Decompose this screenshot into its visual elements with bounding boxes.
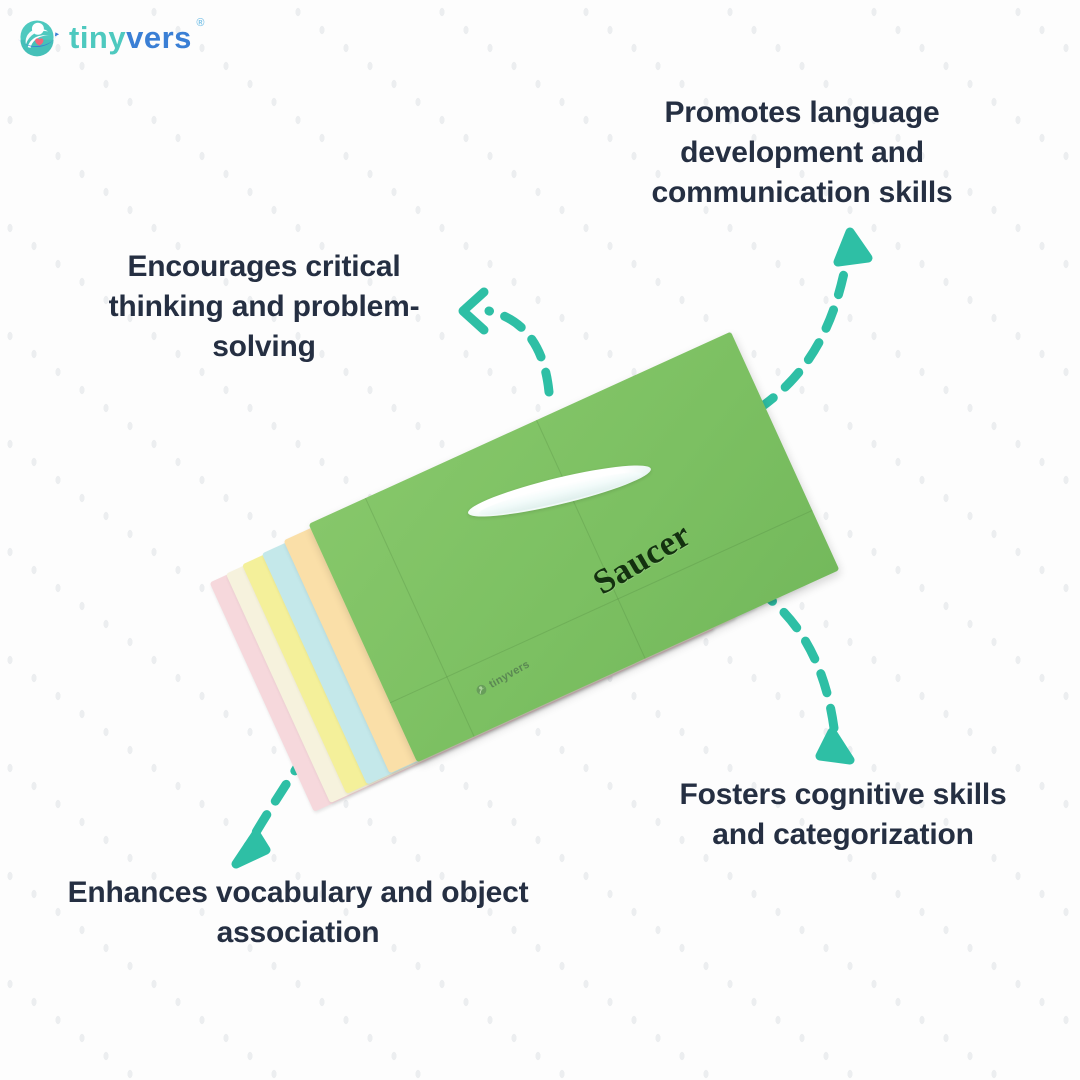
brand-wordmark: tinyvers ® (69, 22, 192, 53)
benefit-caption-language: Promotes language development and commun… (610, 93, 994, 214)
flashcard-stack: Saucer tinyvers (210, 330, 860, 830)
tinyvers-globe-baby-logo-icon (14, 14, 60, 60)
brand-name-part1: tiny (69, 20, 126, 55)
brand-logo[interactable]: tinyvers ® (14, 14, 192, 60)
brand-name-part2: vers (126, 20, 192, 55)
registered-mark: ® (196, 18, 205, 29)
card-watermark: tinyvers (473, 658, 532, 699)
card-label-saucer: Saucer (586, 515, 698, 603)
infographic-canvas: tinyvers ® Promotes language development… (0, 0, 1080, 1080)
watermark-text: tinyvers (487, 658, 532, 690)
card-crease-bottom (390, 510, 813, 703)
card-crease-right (536, 420, 646, 659)
card-top-green: Saucer tinyvers (309, 332, 840, 763)
watermark-logo-icon (473, 681, 491, 699)
benefit-caption-vocabulary: Enhances vocabulary and object associati… (62, 873, 534, 953)
